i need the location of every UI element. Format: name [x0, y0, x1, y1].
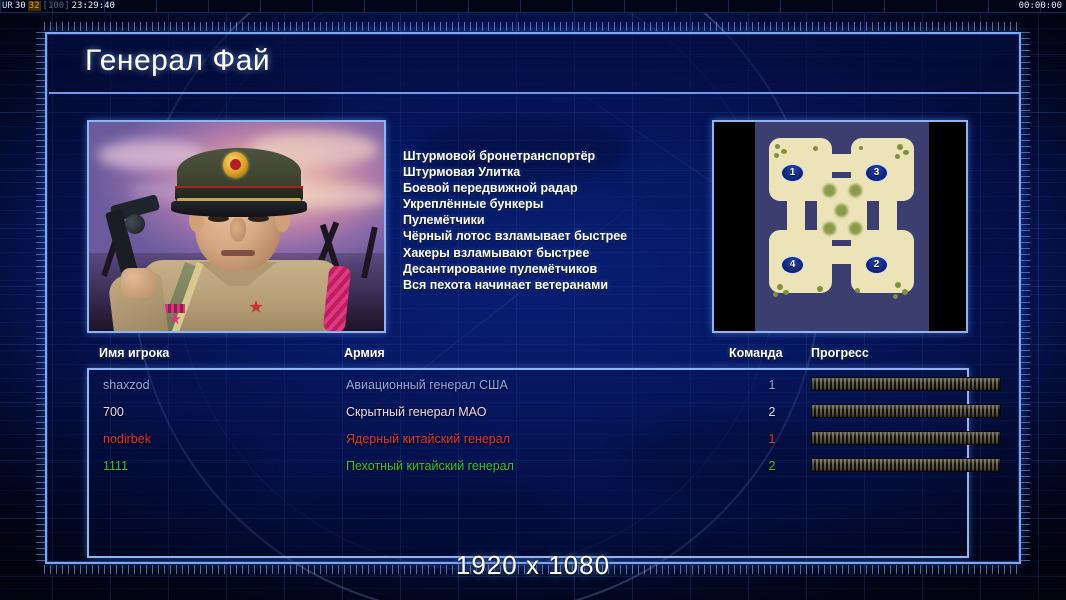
column-header-army: Армия: [344, 346, 385, 360]
player-team: 2: [759, 399, 785, 426]
portrait-cap-visor: [171, 201, 307, 217]
minimap-vegetation: [823, 184, 836, 197]
player-progress-bar: [811, 377, 1001, 391]
minimap-start-position-1[interactable]: 1: [781, 164, 804, 182]
minimap-vegetation: [777, 284, 783, 290]
status-value-1: 30: [15, 1, 26, 11]
portrait-mouth: [221, 250, 255, 256]
minimap-vegetation: [781, 149, 787, 154]
progress-bar-sheen: [812, 459, 1000, 471]
minimap-vegetation: [849, 184, 862, 197]
minimap-vegetation: [849, 222, 862, 235]
portrait-cap-emblem: [223, 152, 248, 178]
main-panel: Генерал Фай: [45, 32, 1021, 564]
ruler-left: [36, 32, 45, 562]
player-army: Пехотный китайский генерал: [346, 453, 514, 480]
player-team: 2: [759, 453, 785, 480]
ability-item: Чёрный лотос взламывает быстрее: [403, 228, 744, 244]
player-army: Авиационный генерал США: [346, 372, 508, 399]
top-status-bar: UR3032[100]23:29:40 00:00:00: [0, 0, 1066, 13]
general-abilities-list: Штурмовой бронетранспортёр Штурмовая Ули…: [394, 120, 744, 333]
player-progress-bar: [811, 431, 1001, 445]
minimap-vegetation: [902, 289, 908, 295]
minimap-start-position-3[interactable]: 3: [865, 164, 888, 182]
status-ur-label: UR: [2, 1, 13, 11]
ability-item: Укреплённые бункеры: [403, 196, 744, 212]
minimap-vegetation: [895, 282, 901, 288]
player-name: 700: [103, 399, 124, 426]
player-army: Скрытный генерал МАО: [346, 399, 486, 426]
player-team: 1: [759, 426, 785, 453]
minimap-start-position-2[interactable]: 2: [865, 256, 888, 274]
ability-item: Вся пехота начинает ветеранами: [403, 277, 744, 293]
minimap-vegetation: [903, 150, 909, 155]
title-bar: Генерал Фай: [49, 36, 1019, 94]
minimap-vegetation: [775, 144, 780, 149]
minimap-bridge: [787, 192, 805, 236]
ability-item: Десантирование пулемётчиков: [403, 261, 744, 277]
resolution-overlay: 1920 x 1080: [0, 550, 1066, 581]
ruler-right: [1021, 32, 1030, 562]
screen-root: UR3032[100]23:29:40 00:00:00 Генерал Фай: [0, 0, 1066, 600]
ability-item: Штурмовой бронетранспортёр: [403, 148, 744, 164]
ruler-top: [44, 22, 1022, 31]
minimap-vegetation: [835, 204, 848, 217]
table-row[interactable]: nodirbek Ядерный китайский генерал 1: [89, 426, 967, 453]
minimap-vegetation: [893, 294, 898, 299]
status-value-2: 32: [28, 1, 41, 11]
player-team: 1: [759, 372, 785, 399]
progress-bar-sheen: [812, 432, 1000, 444]
ability-item: Хакеры взламывают быстрее: [403, 245, 744, 261]
status-clock: 23:29:40: [72, 1, 115, 11]
status-bar-left: UR3032[100]23:29:40: [2, 0, 117, 13]
progress-bar-sheen: [812, 378, 1000, 390]
minimap-vegetation: [855, 288, 860, 293]
main-frame: Генерал Фай: [34, 22, 1032, 572]
status-bar-cells: [0, 0, 1066, 12]
minimap-vegetation: [895, 154, 900, 159]
minimap-terrain: 1 3 4 2: [755, 122, 929, 331]
minimap-bridge: [879, 192, 897, 236]
minimap[interactable]: 1 3 4 2: [712, 120, 968, 333]
player-name: shaxzod: [103, 372, 150, 399]
minimap-vegetation: [859, 146, 863, 150]
panel-content: Штурмовой бронетранспортёр Штурмовая Ули…: [49, 96, 1019, 562]
minimap-vegetation: [817, 286, 823, 292]
player-name: 1111: [103, 453, 128, 480]
player-list: shaxzod Авиационный генерал США 1 700 Ск…: [87, 368, 969, 558]
portrait-hand: [121, 268, 155, 298]
table-row[interactable]: shaxzod Авиационный генерал США 1: [89, 372, 967, 399]
player-table-header: Имя игрока Армия Команда Прогресс: [49, 346, 1019, 368]
minimap-vegetation: [773, 292, 778, 297]
minimap-vegetation: [823, 222, 836, 235]
minimap-vegetation: [897, 144, 903, 150]
minimap-vegetation: [813, 146, 818, 151]
minimap-bridge: [827, 246, 857, 264]
player-progress-bar: [811, 404, 1001, 418]
player-name: nodirbek: [103, 426, 151, 453]
ability-item: Пулемётчики: [403, 212, 744, 228]
minimap-start-position-4[interactable]: 4: [781, 256, 804, 274]
status-value-3: [100]: [43, 1, 70, 11]
ability-item: Боевой передвижной радар: [403, 180, 744, 196]
status-bar-timer: 00:00:00: [1019, 0, 1062, 13]
column-header-player: Имя игрока: [99, 346, 169, 360]
table-row[interactable]: 1111 Пехотный китайский генерал 2: [89, 453, 967, 480]
column-header-team: Команда: [729, 346, 783, 360]
page-title: Генерал Фай: [85, 44, 270, 78]
player-progress-bar: [811, 458, 1001, 472]
ability-item: Штурмовая Улитка: [403, 164, 744, 180]
general-portrait: [87, 120, 386, 333]
player-army: Ядерный китайский генерал: [346, 426, 510, 453]
minimap-bridge: [827, 154, 857, 172]
portrait-medal: [165, 304, 185, 313]
progress-bar-sheen: [812, 405, 1000, 417]
table-row[interactable]: 700 Скрытный генерал МАО 2: [89, 399, 967, 426]
general-info-row: Штурмовой бронетранспортёр Штурмовая Ули…: [49, 120, 1019, 333]
portrait-nose: [230, 218, 246, 242]
column-header-progress: Прогресс: [811, 346, 869, 360]
minimap-vegetation: [783, 290, 789, 295]
minimap-vegetation: [774, 153, 779, 158]
